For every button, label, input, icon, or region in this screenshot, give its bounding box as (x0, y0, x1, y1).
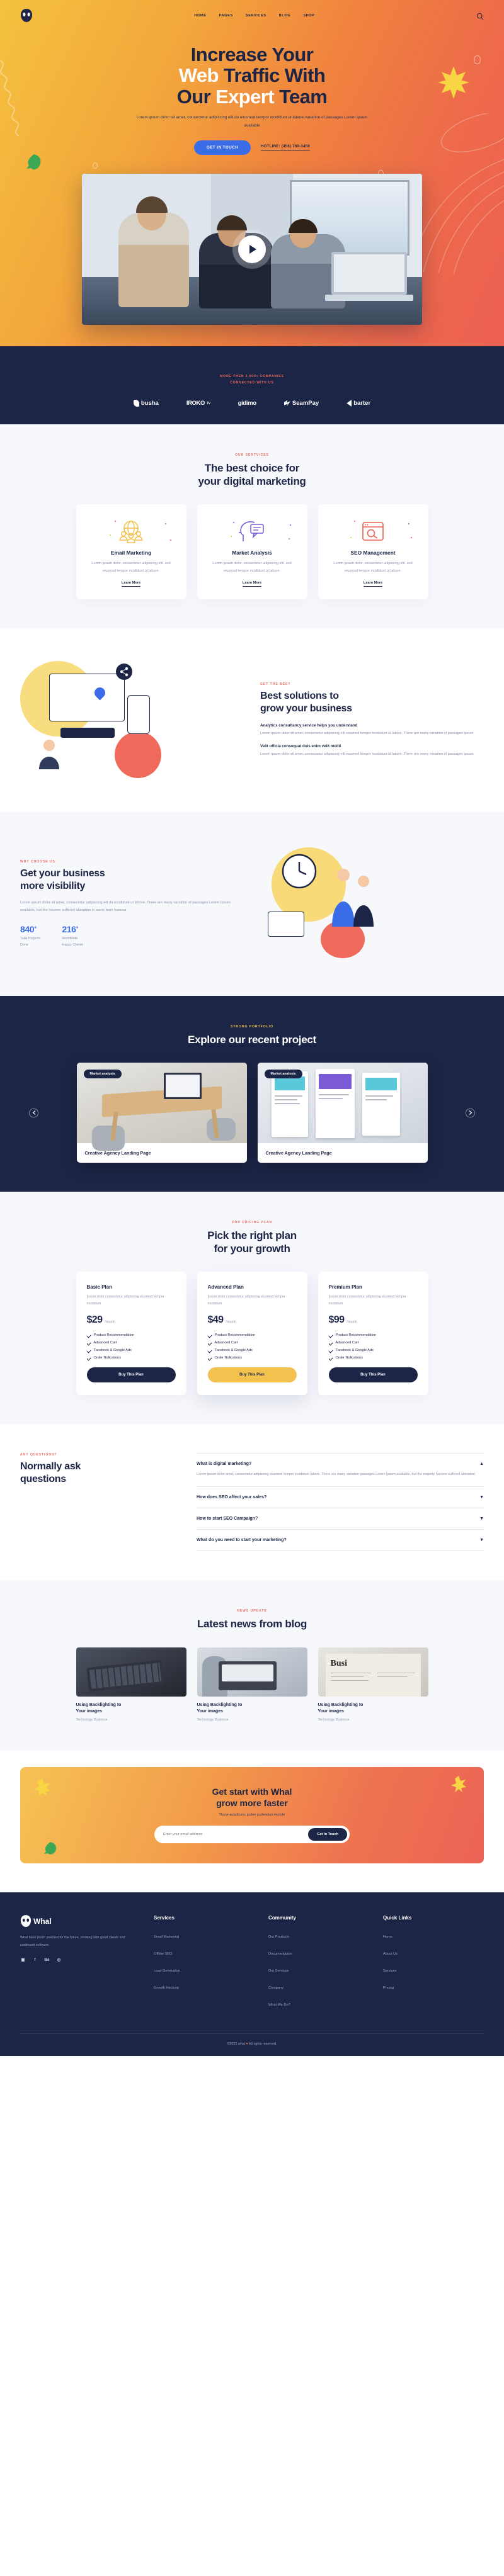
brands-kicker: MORE THEN 2,000+ COMPANIES CONNECTED WIT… (0, 374, 504, 386)
plan-name: Advanced Plan (208, 1284, 297, 1290)
footer-col-quick-links: Quick Links Home About Us Services Prici… (383, 1915, 484, 2014)
plan-amount: $49 (208, 1314, 224, 1326)
plan-feature-label: Advanced Cart (94, 1341, 117, 1345)
globe-people-icon (117, 519, 145, 544)
play-button[interactable] (238, 235, 266, 263)
chevron-down-icon[interactable]: ▼ (479, 1517, 484, 1521)
solutions-kicker: GET THE BEST (260, 682, 484, 686)
cta-banner: Get start with Whal grow more faster Tho… (20, 1767, 484, 1863)
portfolio-badge: Market analysis (265, 1070, 302, 1078)
plan-feature-label: Advanced Cart (215, 1341, 238, 1345)
plan-feature-label: Product Recommendation (94, 1333, 135, 1337)
buy-plan-button-premium[interactable]: Buy This Plan (329, 1367, 418, 1382)
cta-title: Get start with Whal grow more faster (33, 1786, 471, 1809)
plan-desc: Ipsum dolor consectetur adipiscing eiusm… (87, 1294, 176, 1307)
stat-number: 840 (20, 924, 34, 934)
brand-logo-row: busha IROKOTV gidimo SeamPay barter (0, 400, 504, 407)
footer-link[interactable]: Offline SEO (154, 1952, 172, 1956)
brand-label: barter (353, 400, 370, 407)
stat-label-line-2: Happy Clients (62, 942, 83, 949)
solutions-illustration (20, 657, 244, 783)
email-input[interactable] (163, 1833, 308, 1836)
service-card-email-marketing[interactable]: Email Marketing Lorem ipsum dolor, conse… (76, 504, 186, 599)
illus-phone (127, 695, 150, 734)
cta-section: Get start with Whal grow more faster Tho… (0, 1751, 504, 1892)
plan-price: $49 /month (208, 1314, 297, 1326)
pricing-kicker: OUR PRICING PLAN (20, 1221, 484, 1224)
portfolio-card-row: Market analysis Creative Agency Landing … (20, 1063, 484, 1163)
hero-actions: GET IN TOUCH HOTLINE: (456) 760-3456 (0, 140, 504, 155)
brands-kicker-line-2: CONNECTED WITH US (0, 380, 504, 387)
check-icon (87, 1341, 91, 1345)
heart-icon: ♥ (246, 2042, 248, 2046)
plan-feature-label: Advanced Cart (336, 1341, 359, 1345)
plan-feature: Advanced Cart (87, 1341, 176, 1345)
stat-label-line-1: Total Projects (20, 936, 40, 942)
faq-item[interactable]: How to start SEO Campaign? ▼ (197, 1508, 484, 1530)
service-learn-more-link[interactable]: Learn More (243, 581, 261, 587)
footer-link[interactable]: Pricing (383, 1986, 394, 1990)
blog-card-meta: Technology, Business (197, 1718, 307, 1722)
footer-col-heading: Quick Links (383, 1915, 484, 1921)
plan-feature: Facebook & Google Ads (208, 1348, 297, 1352)
blog-card[interactable]: Busi Using Backlighting to Your images T… (318, 1647, 428, 1722)
portfolio-next-button[interactable] (466, 1108, 475, 1117)
visibility-text: Lorem ipsum dolor sit amet, consectetur … (20, 899, 244, 914)
hero-title-team: Team (279, 86, 327, 108)
whale-logo-icon (20, 1915, 31, 1928)
check-icon (87, 1348, 91, 1352)
seo-browser-icon (359, 519, 387, 544)
stat-label-line-2: Done (20, 942, 40, 949)
illus-person (37, 738, 74, 769)
hero-title-traffic: Traffic With (224, 64, 325, 86)
deco-leaf (25, 154, 42, 173)
service-title: Email Marketing (87, 550, 176, 556)
pricing-card-row: Basic Plan Ipsum dolor consectetur adipi… (20, 1272, 484, 1395)
brand-logo-busha[interactable]: busha (134, 400, 159, 407)
dribbble-icon[interactable]: ◎ (56, 1957, 62, 1963)
hero-title-web: Web (179, 64, 219, 86)
check-icon (208, 1341, 212, 1345)
newsletter-form: Get In Touch (154, 1826, 350, 1843)
faq-answer: Lorem ipsum dolor amet, consectetur adip… (197, 1471, 484, 1478)
check-icon (208, 1333, 212, 1337)
plan-name: Premium Plan (329, 1284, 418, 1290)
portfolio-badge: Market analysis (84, 1070, 122, 1078)
plan-feature: Order Nofications (329, 1356, 418, 1360)
service-learn-more-link[interactable]: Learn More (122, 581, 140, 587)
faq-accordion: What is digital marketing? ▲ Lorem ipsum… (197, 1453, 484, 1551)
stat-label-line-1: Worldwide (62, 936, 83, 942)
services-section: OUR SERTVICES The best choice for your d… (0, 424, 504, 628)
solutions-section: GET THE BEST Best solutions to grow your… (0, 628, 504, 812)
pricing-title-line-1: Pick the right plan (20, 1229, 484, 1242)
visibility-split: WHY CHOOSE US Get your business more vis… (20, 841, 484, 967)
hero-section: HOME PAGES SERVICES BLOG SHOP Increase Y… (0, 0, 504, 346)
search-icon (476, 13, 484, 20)
faq-question-row[interactable]: How does SEO affect your sales? ▼ (197, 1495, 484, 1500)
footer-col-community: Community Our Products Documentation Our… (268, 1915, 369, 2014)
solutions-title-line-2: grow your business (260, 703, 484, 715)
nav-item-shop[interactable]: SHOP (303, 14, 314, 18)
plan-feature-label: Facebook & Google Ads (336, 1348, 374, 1352)
chevron-left-icon (32, 1110, 36, 1116)
blog-title-line-1: Using Backlighting to (318, 1702, 428, 1709)
footer-social-row: ▣ f Bē ◎ (20, 1957, 140, 1963)
feature-text: Lorem ipsum dolor sit amet, consectetur … (260, 730, 484, 737)
feature-heading: Velit officia consequat duis enim velit … (260, 744, 484, 749)
get-in-touch-button[interactable]: GET IN TOUCH (194, 140, 251, 155)
nav-item-blog[interactable]: BLOG (279, 14, 291, 18)
copyright-post: All rights reserved. (249, 2042, 277, 2046)
solutions-feature-2: Velit officia consequat duis enim velit … (260, 744, 484, 758)
portfolio-kicker: STRONG PORTFOLIO (20, 1025, 484, 1029)
faq-section: ANY QUESTIONS? Normally ask questions Wh… (0, 1424, 504, 1580)
footer-logo[interactable]: Whal (20, 1915, 140, 1928)
plan-desc: Ipsum dolor consectetur adipiscing eiusm… (208, 1294, 297, 1307)
faq-title: Normally ask questions (20, 1460, 178, 1486)
blog-title-line-1: Using Backlighting to (197, 1702, 307, 1709)
blog-title-line-2: Your images (318, 1709, 428, 1715)
blog-title-line-2: Your images (197, 1709, 307, 1715)
hero-subtitle: Lorem ipsum dolor sit amet, consectetur … (135, 114, 369, 130)
service-card-market-analysis[interactable]: Market Analysis Lorem ipsum dolor, conse… (197, 504, 307, 599)
footer-link[interactable]: Our Services (268, 1969, 289, 1973)
plan-feature-list: Product Recommendation Advanced Cart Fac… (329, 1333, 418, 1360)
deco-blob-red (115, 732, 161, 778)
plan-feature: Facebook & Google Ads (87, 1348, 176, 1352)
visibility-kicker: WHY CHOOSE US (20, 860, 244, 864)
brand-logo-irokotv[interactable]: IROKOTV (186, 400, 210, 407)
play-button-icon (249, 245, 256, 254)
check-icon (329, 1333, 333, 1337)
footer-columns: Whal Whal have much planned for the futu… (20, 1915, 484, 2014)
faq-heading-col: ANY QUESTIONS? Normally ask questions (20, 1453, 178, 1486)
portfolio-card-title: Creative Agency Landing Page (258, 1143, 428, 1163)
stat-number: 216 (62, 924, 76, 934)
visibility-title: Get your business more visibility (20, 867, 244, 893)
plan-feature: Order Nofications (87, 1356, 176, 1360)
brand-logo-gidimo[interactable]: gidimo (238, 400, 256, 407)
seampay-mark-icon (284, 400, 290, 407)
hero-video-card[interactable] (82, 174, 422, 325)
footer-link[interactable]: Our Products (268, 1935, 289, 1939)
faq-question: How does SEO affect your sales? (197, 1495, 266, 1500)
footer-brand-col: Whal Whal have much planned for the futu… (20, 1915, 140, 2014)
plan-price: $29 /month (87, 1314, 176, 1326)
feature-text: Lorem ipsum dolor sit amet, consectetur … (260, 751, 484, 758)
blog-card-title: Using Backlighting to Your images (197, 1702, 307, 1715)
check-icon (87, 1356, 91, 1360)
cta-subtitle: Thone quisditums puiton puderatian moris… (33, 1813, 471, 1817)
portfolio-image: Market analysis (77, 1063, 247, 1143)
brand-logo-barter[interactable]: barter (346, 400, 370, 407)
pricing-section: OUR PRICING PLAN Pick the right plan for… (0, 1192, 504, 1424)
faq-question: What do you need to start your marketing… (197, 1538, 287, 1542)
footer-link[interactable]: Email Marketing (154, 1935, 179, 1939)
pricing-title: Pick the right plan for your growth (20, 1229, 484, 1255)
stat-suffix: + (34, 925, 37, 930)
stat-number-wrap: 840+ (20, 924, 40, 934)
services-kicker: OUR SERTVICES (20, 453, 484, 457)
brand-label: IROKO (186, 400, 205, 407)
behance-icon[interactable]: Bē (44, 1957, 50, 1963)
faq-item[interactable]: What do you need to start your marketing… (197, 1530, 484, 1551)
nav-item-home[interactable]: HOME (194, 14, 206, 18)
chevron-right-icon (469, 1110, 472, 1116)
faq-question-row[interactable]: What is digital marketing? ▲ (197, 1462, 484, 1466)
footer-col-heading: Services (154, 1915, 255, 1921)
illus-person-pair (329, 866, 376, 927)
plan-period: /month (346, 1320, 357, 1324)
footer-link[interactable]: Lead Generation (154, 1969, 180, 1973)
solutions-illustration-col (20, 657, 244, 783)
visibility-illustration (260, 841, 484, 967)
blog-card[interactable]: Using Backlighting to Your images Techno… (76, 1647, 186, 1722)
plan-price: $99 /month (329, 1314, 418, 1326)
stat-label: Worldwide Happy Clients (62, 936, 83, 948)
faq-wrap: ANY QUESTIONS? Normally ask questions Wh… (20, 1453, 484, 1551)
illus-share-icon (115, 662, 134, 681)
plan-desc: Ipsum dolor consectetur adipiscing eiusm… (329, 1294, 418, 1307)
brands-kicker-line-1: MORE THEN 2,000+ COMPANIES (0, 374, 504, 380)
plan-feature: Facebook & Google Ads (329, 1348, 418, 1352)
plan-feature-label: Order Nofications (336, 1356, 364, 1360)
deco-star-icon (34, 1778, 50, 1796)
chevron-down-icon[interactable]: ▼ (479, 1538, 484, 1542)
stat-suffix: + (76, 925, 79, 930)
illus-keyboard (60, 728, 115, 738)
faq-question-row[interactable]: How to start SEO Campaign? ▼ (197, 1517, 484, 1521)
stat-happy-clients: 216+ Worldwide Happy Clients (62, 924, 83, 948)
illus-chart-card (268, 912, 304, 937)
plan-feature-label: Order Nofications (94, 1356, 122, 1360)
blog-card[interactable]: Using Backlighting to Your images Techno… (197, 1647, 307, 1722)
pricing-card-basic: Basic Plan Ipsum dolor consectetur adipi… (76, 1272, 186, 1395)
footer-link[interactable]: Services (383, 1969, 396, 1973)
blog-card-meta: Technology, Business (76, 1718, 186, 1722)
faq-question-row[interactable]: What do you need to start your marketing… (197, 1538, 484, 1542)
check-icon (329, 1348, 333, 1352)
hero-title: Increase Your Web Traffic With Our Exper… (0, 44, 504, 107)
blog-card-meta: Technology, Business (318, 1718, 428, 1722)
portfolio-section: STRONG PORTFOLIO Explore our recent proj… (0, 996, 504, 1192)
blog-image (197, 1647, 307, 1697)
landing-page: HOME PAGES SERVICES BLOG SHOP Increase Y… (0, 0, 504, 2056)
deco-leaf-icon (43, 1842, 57, 1857)
stat-label: Total Projects Done (20, 936, 40, 948)
check-icon (87, 1333, 91, 1337)
check-icon (329, 1341, 333, 1345)
brand-logo-seampay[interactable]: SeamPay (284, 400, 319, 407)
footer-about: Whal have much planned for the future, w… (20, 1935, 140, 1949)
hero-title-our: Our (177, 86, 210, 108)
service-icon-wrap (329, 517, 418, 546)
facebook-icon[interactable]: f (32, 1957, 38, 1963)
busha-mark-icon (134, 400, 139, 407)
plan-feature: Product Recommendation (329, 1333, 418, 1337)
plan-period: /month (226, 1320, 236, 1324)
check-icon (208, 1348, 212, 1352)
cta-submit-button[interactable]: Get In Touch (308, 1828, 347, 1841)
footer-link[interactable]: Company (268, 1986, 283, 1990)
nav-item-pages[interactable]: PAGES (219, 14, 233, 18)
footer-link[interactable]: Documentation (268, 1952, 292, 1956)
plan-feature-label: Product Recommendation (215, 1333, 256, 1337)
solutions-split: GET THE BEST Best solutions to grow your… (20, 657, 484, 783)
portfolio-image: Market analysis (258, 1063, 428, 1143)
hotline-link[interactable]: HOTLINE: (456) 760-3456 (261, 145, 310, 150)
visibility-section: WHY CHOOSE US Get your business more vis… (0, 812, 504, 996)
service-text: Lorem ipsum dolor, consectetur adipiscin… (87, 560, 176, 575)
plan-feature-label: Facebook & Google Ads (94, 1348, 132, 1352)
service-title: SEO Management (329, 550, 418, 556)
cta-title-line-1: Get start with Whal (33, 1786, 471, 1797)
faq-title-line-2: questions (20, 1473, 178, 1486)
faq-item[interactable]: How does SEO affect your sales? ▼ (197, 1487, 484, 1508)
plan-feature: Advanced Cart (329, 1341, 418, 1345)
blog-title: Latest news from blog (20, 1617, 484, 1630)
visibility-title-line-2: more visibility (20, 880, 244, 893)
check-icon (208, 1356, 212, 1360)
portfolio-card[interactable]: Market analysis Creative Agency Landing … (258, 1063, 428, 1163)
services-title-line-2: your digital marketing (20, 475, 484, 488)
nav-item-services[interactable]: SERVICES (246, 14, 266, 18)
footer-copyright: ©2022 whal ♥ All rights reserved. (20, 2033, 484, 2056)
nav-links: HOME PAGES SERVICES BLOG SHOP (194, 14, 314, 18)
brand-label: gidimo (238, 400, 256, 407)
blog-title-line-2: Your images (76, 1709, 186, 1715)
check-icon (329, 1356, 333, 1360)
site-footer: Whal Whal have much planned for the futu… (0, 1892, 504, 2056)
plan-feature: Product Recommendation (208, 1333, 297, 1337)
plan-feature-list: Product Recommendation Advanced Cart Fac… (208, 1333, 297, 1360)
service-learn-more-link[interactable]: Learn More (364, 581, 382, 587)
plan-feature: Product Recommendation (87, 1333, 176, 1337)
hero-title-line-1: Increase Your (191, 43, 313, 65)
plan-amount: $99 (329, 1314, 345, 1326)
footer-col-heading: Community (268, 1915, 369, 1921)
plan-feature: Advanced Cart (208, 1341, 297, 1345)
blog-card-row: Using Backlighting to Your images Techno… (20, 1647, 484, 1722)
partner-brands-section: MORE THEN 2,000+ COMPANIES CONNECTED WIT… (0, 346, 504, 424)
head-chat-icon (238, 519, 266, 544)
plan-amount: $29 (87, 1314, 103, 1326)
stat-total-projects: 840+ Total Projects Done (20, 924, 40, 948)
plan-name: Basic Plan (87, 1284, 176, 1290)
blog-image: Busi (318, 1647, 428, 1697)
footer-link[interactable]: Growth Hacking (154, 1986, 179, 1990)
solutions-text-col: GET THE BEST Best solutions to grow your… (260, 682, 484, 758)
stat-number-wrap: 216+ (62, 924, 83, 934)
brand-sup: TV (207, 402, 210, 405)
portfolio-prev-button[interactable] (29, 1108, 38, 1117)
hero-content: Increase Your Web Traffic With Our Exper… (0, 23, 504, 155)
footer-link[interactable]: Home (383, 1935, 392, 1939)
faq-question: What is digital marketing? (197, 1462, 251, 1466)
service-text: Lorem ipsum dolor, consectetur adipiscin… (329, 560, 418, 575)
instagram-icon[interactable]: ▣ (20, 1957, 26, 1963)
buy-plan-button-advanced[interactable]: Buy This Plan (208, 1367, 297, 1382)
cta-title-line-2: grow more faster (33, 1797, 471, 1809)
faq-title-line-1: Normally ask (20, 1460, 178, 1473)
solutions-title-line-1: Best solutions to (260, 690, 484, 703)
portfolio-card[interactable]: Market analysis Creative Agency Landing … (77, 1063, 247, 1163)
barter-mark-icon (346, 400, 352, 407)
deco-star-icon (451, 1776, 466, 1792)
faq-item[interactable]: What is digital marketing? ▲ Lorem ipsum… (197, 1453, 484, 1487)
chevron-down-icon[interactable]: ▼ (479, 1495, 484, 1500)
buy-plan-button-basic[interactable]: Buy This Plan (87, 1367, 176, 1382)
blog-kicker: NEWS UPDATE (20, 1609, 484, 1613)
faq-kicker: ANY QUESTIONS? (20, 1453, 178, 1457)
visibility-illustration-col (260, 841, 484, 967)
hero-title-expert: Expert (215, 86, 274, 108)
brand-label: SeamPay (292, 400, 319, 407)
top-navbar: HOME PAGES SERVICES BLOG SHOP (0, 0, 504, 23)
plan-feature-label: Product Recommendation (336, 1333, 377, 1337)
blog-card-title: Using Backlighting to Your images (318, 1702, 428, 1715)
copyright-pre: ©2022 whal (227, 2042, 245, 2046)
service-title: Market Analysis (208, 550, 297, 556)
chevron-up-icon[interactable]: ▲ (479, 1462, 484, 1466)
feature-heading: Analytics consultancy service helps you … (260, 723, 484, 728)
footer-col-services: Services Email Marketing Offline SEO Lea… (154, 1915, 255, 2014)
plan-period: /month (105, 1320, 115, 1324)
stats-row: 840+ Total Projects Done 216+ Worldwide … (20, 924, 244, 948)
illus-monitor (49, 674, 125, 721)
services-title-line-1: The best choice for (20, 461, 484, 475)
solutions-feature-1: Analytics consultancy service helps you … (260, 723, 484, 737)
blog-card-title: Using Backlighting to Your images (76, 1702, 186, 1715)
pricing-card-advanced: Advanced Plan Ipsum dolor consectetur ad… (197, 1272, 307, 1395)
whale-logo-icon (20, 9, 33, 23)
service-card-row: Email Marketing Lorem ipsum dolor, conse… (20, 504, 484, 599)
portfolio-title: Explore our recent project (20, 1033, 484, 1046)
footer-link[interactable]: About Us (383, 1952, 398, 1956)
plan-feature: Order Nofications (208, 1356, 297, 1360)
plan-feature-label: Facebook & Google Ads (215, 1348, 253, 1352)
blog-image (76, 1647, 186, 1697)
brand-label: busha (141, 400, 159, 407)
service-icon-wrap (87, 517, 176, 546)
services-title: The best choice for your digital marketi… (20, 461, 484, 488)
service-icon-wrap (208, 517, 297, 546)
footer-logo-text: Whal (33, 1917, 52, 1926)
illus-clock-icon (279, 851, 319, 891)
footer-link[interactable]: What We Do? (268, 2003, 290, 2007)
blog-title-line-1: Using Backlighting to (76, 1702, 186, 1709)
plan-feature-label: Order Nofications (215, 1356, 243, 1360)
pricing-title-line-2: for your growth (20, 1242, 484, 1255)
blog-section: NEWS UPDATE Latest news from blog Using … (0, 1580, 504, 1750)
plan-feature-list: Product Recommendation Advanced Cart Fac… (87, 1333, 176, 1360)
service-card-seo-management[interactable]: SEO Management Lorem ipsum dolor, consec… (318, 504, 428, 599)
visibility-title-line-1: Get your business (20, 867, 244, 880)
visibility-text-col: WHY CHOOSE US Get your business more vis… (20, 860, 244, 949)
faq-question: How to start SEO Campaign? (197, 1517, 258, 1521)
deco-ring (93, 162, 98, 169)
logo[interactable] (20, 9, 33, 23)
solutions-title: Best solutions to grow your business (260, 690, 484, 715)
search-button[interactable] (476, 12, 484, 20)
pricing-card-premium: Premium Plan Ipsum dolor consectetur adi… (318, 1272, 428, 1395)
service-text: Lorem ipsum dolor, consectetur adipiscin… (208, 560, 297, 575)
